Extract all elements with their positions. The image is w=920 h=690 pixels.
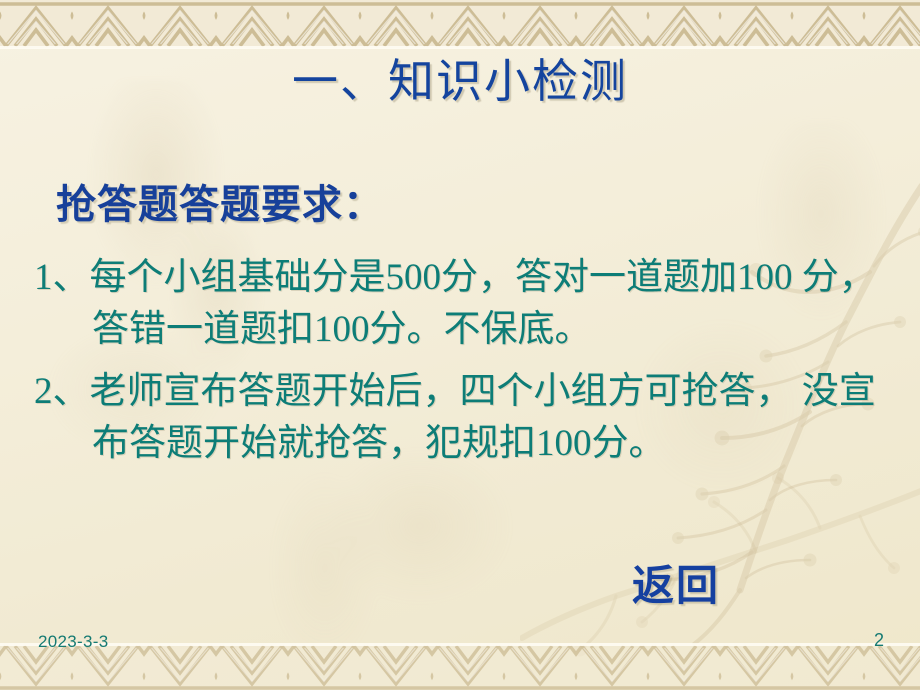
slide-subtitle: 抢答题答题要求： <box>56 172 384 230</box>
footer-date: 2023-3-3 <box>38 632 108 652</box>
footer-page-number: 2 <box>874 630 884 651</box>
body-paragraph-2: 2、老师宣布答题开始后，四个小组方可抢答， 没宣布答题开始就抢答，犯规扣100分… <box>34 366 890 470</box>
slide-body: 1、每个小组基础分是500分，答对一道题加100 分，答错一道题扣100分。不保… <box>34 252 890 474</box>
presentation-slide: 一、知识小检测 抢答题答题要求： 1、每个小组基础分是500分，答对一道题加10… <box>0 0 920 690</box>
return-link[interactable]: 返回 <box>632 552 720 613</box>
slide-title: 一、知识小检测 <box>0 58 920 106</box>
body-paragraph-1: 1、每个小组基础分是500分，答对一道题加100 分，答错一道题扣100分。不保… <box>34 252 890 356</box>
